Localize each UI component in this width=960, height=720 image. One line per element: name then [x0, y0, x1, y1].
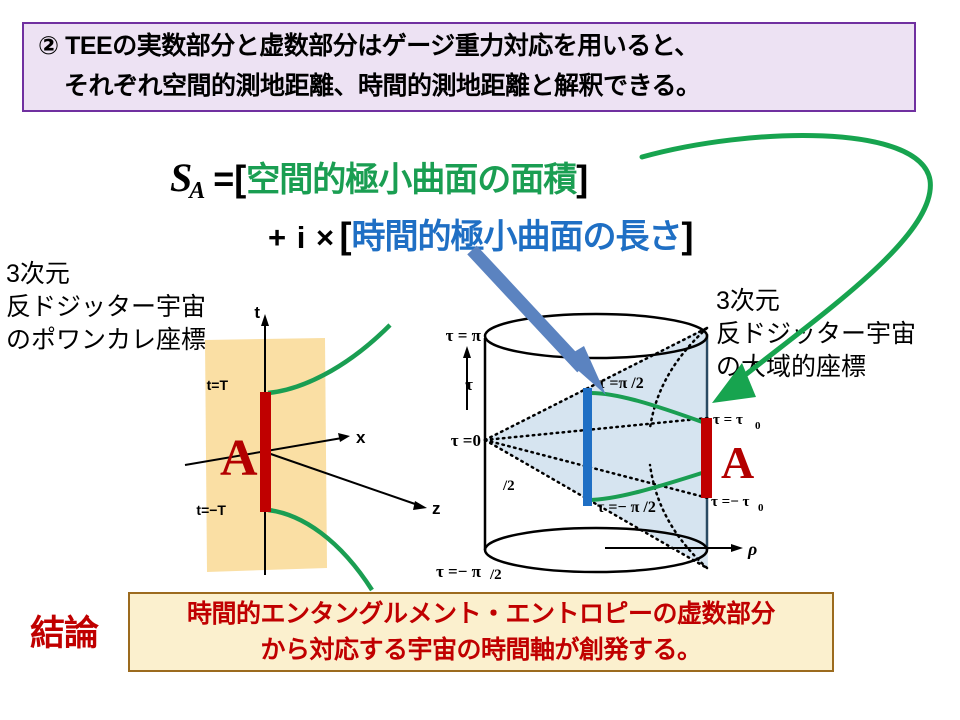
poincare-label-t-plus-T: t=T [207, 377, 229, 393]
conclusion-line-1: 時間的エンタングルメント・エントロピーの虚数部分 [187, 596, 775, 632]
formula-subscript-A: A [189, 178, 205, 204]
poincare-red-interval-bar [260, 392, 271, 512]
cylinder-rho-arrowhead [731, 544, 743, 552]
formula-bracket-close-1: ] [576, 158, 588, 199]
statement-line-2: それぞれ空間的測地距離、時間的測地距離と解釈できる。 [38, 66, 904, 106]
poincare-x-arrowhead [338, 433, 350, 442]
cylinder-axis-label-rho: ρ [747, 539, 757, 559]
cylinder-label-half-left: /2 [502, 478, 515, 494]
formula-equals: = [213, 158, 234, 199]
cylinder-label-tau-minus-tau0-subscript: 0 [758, 502, 764, 514]
cylinder-label-tau-tau0-subscript: 0 [755, 420, 761, 432]
conclusion-label: 結論 [30, 605, 98, 656]
poincare-axis-label-z: z [432, 499, 441, 518]
poincare-z-arrowhead [413, 501, 427, 510]
cylinder-region-label-A: A [721, 437, 754, 488]
formula-spatial-term: 空間的極小曲面の面積 [246, 161, 576, 199]
cylinder-red-interval-bar [701, 418, 712, 498]
cylinder-label-half-bottom: /2 [489, 567, 502, 583]
blue-arrow-shaft [472, 250, 582, 368]
cylinder-label-tau-minus-half-pi: τ =− π /2 [597, 499, 656, 516]
poincare-region-label-A: A [220, 430, 258, 487]
cylinder-label-tau-minus-tau0: τ =− τ [711, 494, 750, 510]
conclusion-box: 時間的エンタングルメント・エントロピーの虚数部分 から対応する宇宙の時間軸が創発… [128, 592, 834, 672]
green-annotation-arrow [600, 125, 960, 415]
cylinder-label-tau-minus-pi: τ =− π [436, 562, 482, 581]
formula-bracket-open-1: [ [234, 158, 246, 199]
poincare-diagram: t=T t=−T t x z A [150, 300, 450, 590]
poincare-label-t-minus-T: t=−T [196, 502, 226, 518]
cylinder-bottom-ellipse [485, 528, 707, 572]
statement-line-1: ② TEEの実数部分と虚数部分はゲージ重力対応を用いると、 [38, 26, 904, 66]
green-arrow-shaft [642, 135, 930, 387]
statement-banner: ② TEEの実数部分と虚数部分はゲージ重力対応を用いると、 それぞれ空間的測地距… [22, 22, 916, 112]
formula-plus-i-times: + i × [268, 220, 335, 255]
poincare-t-arrowhead [261, 314, 269, 326]
poincare-axis-label-x: x [356, 428, 366, 447]
poincare-axis-label-t: t [254, 303, 260, 322]
formula-bracket-open-2: [ [340, 215, 352, 256]
conclusion-line-2: から対応する宇宙の時間軸が創発する。 [260, 632, 701, 668]
caption-left-line-1: 3次元 [6, 258, 206, 291]
cylinder-label-tau-zero: τ =0 [451, 431, 481, 450]
